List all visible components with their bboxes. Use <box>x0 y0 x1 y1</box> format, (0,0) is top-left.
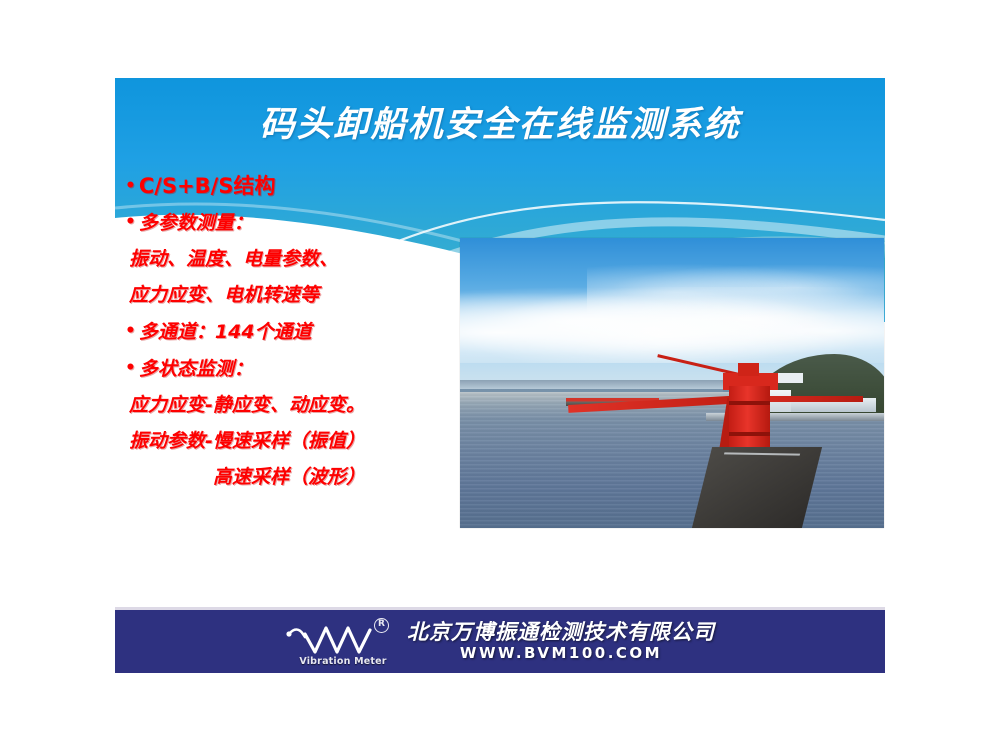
bullet-subline: 应力应变-静应变、动应变。 <box>125 387 465 423</box>
photo-crane-tower <box>729 386 769 456</box>
footer-bar: R Vibration Meter 北京万博振通检测技术有限公司 WWW.BVM… <box>115 607 885 673</box>
logo-caption: Vibration Meter <box>293 656 393 667</box>
footer-content: R Vibration Meter 北京万博振通检测技术有限公司 WWW.BVM… <box>115 610 885 673</box>
slide-canvas: 码头卸船机安全在线监测系统 C/S+B/S结构 多参数测量： 振动、温度、电量参… <box>0 0 1000 750</box>
vibration-wave-logo-icon: R Vibration Meter <box>285 618 395 666</box>
company-website[interactable]: WWW.BVM100.COM <box>407 644 715 662</box>
bullet-item: 多通道：144个通道 <box>125 313 465 350</box>
page-title: 码头卸船机安全在线监测系统 <box>115 96 885 147</box>
bullet-item: 多状态监测： <box>125 350 465 387</box>
bullet-subline: 高速采样（波形） <box>125 459 465 495</box>
ship-unloader-photo <box>460 238 884 528</box>
bullet-subline: 振动参数-慢速采样（振值） <box>125 423 465 459</box>
photo-crane-boom-rear <box>757 396 863 402</box>
photo-crane-cab <box>738 363 759 376</box>
registered-trademark-icon: R <box>374 618 389 633</box>
company-name-cn: 北京万博振通检测技术有限公司 <box>407 620 715 644</box>
company-identity: 北京万博振通检测技术有限公司 WWW.BVM100.COM <box>407 620 715 664</box>
bullet-list: C/S+B/S结构 多参数测量： 振动、温度、电量参数、 应力应变、电机转速等 … <box>125 168 465 495</box>
bullet-subline: 振动、温度、电量参数、 <box>125 241 465 277</box>
bullet-item: 多参数测量： <box>125 204 465 241</box>
photo-cloud-band <box>460 287 884 362</box>
bullet-item: C/S+B/S结构 <box>125 168 465 204</box>
photo-distant-shore <box>460 380 723 392</box>
bullet-subline: 应力应变、电机转速等 <box>125 277 465 313</box>
